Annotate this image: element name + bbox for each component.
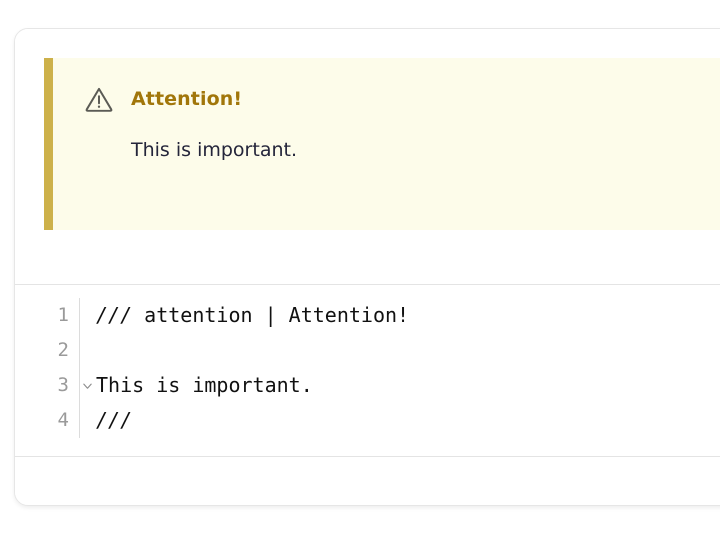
line-number: 3: [58, 368, 69, 403]
preview-code-card: Attention! This is important. 1234 /// a…: [14, 28, 720, 506]
code-line[interactable]: This is important.: [96, 368, 720, 403]
warning-triangle-icon: [84, 84, 114, 114]
code-line[interactable]: ///: [96, 403, 720, 438]
admonition-attention: Attention! This is important.: [44, 58, 720, 230]
card-footer: [15, 457, 720, 504]
rendered-preview-pane: Attention! This is important.: [15, 29, 720, 285]
line-number-row[interactable]: 2: [15, 333, 79, 368]
line-number: 4: [58, 403, 69, 438]
line-number-row[interactable]: 4: [15, 403, 79, 438]
code-line[interactable]: /// attention | Attention!: [96, 298, 720, 333]
line-number-row[interactable]: 3: [15, 368, 79, 403]
admonition-title-row: Attention!: [53, 58, 720, 114]
line-number: 2: [58, 333, 69, 368]
code-token-text: attention | Attention!: [132, 303, 409, 327]
code-token-delimiter: ///: [96, 408, 132, 432]
admonition-body-text: This is important.: [53, 114, 720, 163]
code-content[interactable]: /// attention | Attention! This is impor…: [80, 298, 720, 438]
code-line[interactable]: [96, 333, 720, 368]
code-editor[interactable]: 1234 /// attention | Attention! This is …: [15, 285, 720, 438]
admonition-title: Attention!: [131, 90, 242, 109]
page-root: Attention! This is important. 1234 /// a…: [0, 0, 720, 544]
line-number-gutter[interactable]: 1234: [15, 298, 80, 438]
code-token-text: This is important.: [96, 373, 313, 397]
source-code-pane[interactable]: 1234 /// attention | Attention! This is …: [15, 285, 720, 457]
line-number-row[interactable]: 1: [15, 298, 79, 333]
line-number: 1: [58, 298, 69, 333]
code-token-delimiter: ///: [96, 303, 132, 327]
